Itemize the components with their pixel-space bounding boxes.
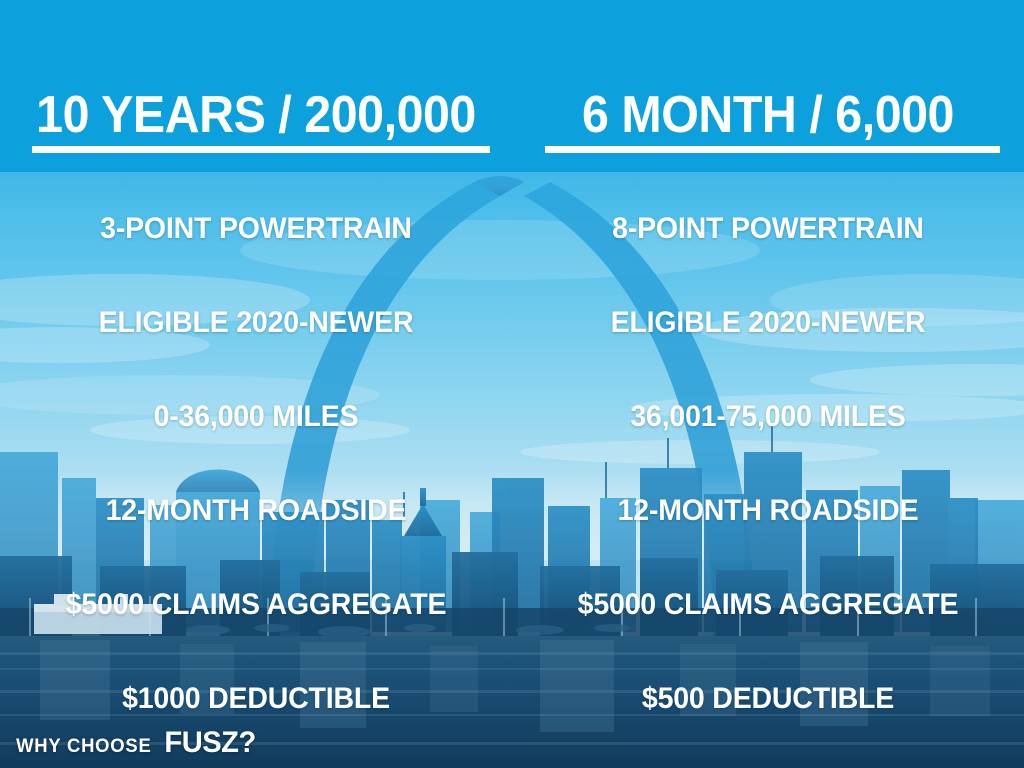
- feature-left-miles: 0-36,000 MILES: [13, 400, 499, 434]
- headline-underline-right: [545, 146, 1000, 153]
- feature-right-roadside: 12-MONTH ROADSIDE: [525, 494, 1011, 528]
- feature-left-powertrain: 3-POINT POWERTRAIN: [13, 212, 499, 246]
- feature-left-roadside: 12-MONTH ROADSIDE: [13, 494, 499, 528]
- feature-left-eligible: ELIGIBLE 2020-NEWER: [13, 306, 499, 340]
- feature-right-deductible: $500 DEDUCTIBLE: [525, 682, 1011, 716]
- feature-left-deductible: $1000 DEDUCTIBLE: [13, 682, 499, 716]
- brand-prefix: WHY CHOOSE: [16, 736, 151, 758]
- promo-graphic: 10 YEARS / 200,000 6 MONTH / 6,000 3-POI…: [0, 0, 1024, 768]
- headline-right: 6 MONTH / 6,000: [530, 88, 1006, 142]
- headline-underline-left: [32, 146, 490, 153]
- feature-left-claims-aggregate: $5000 CLAIMS AGGREGATE: [13, 588, 499, 622]
- benefit-row: ELIGIBLE 2020-NEWER ELIGIBLE 2020-NEWER: [0, 276, 1024, 370]
- headline-column-left: 10 YEARS / 200,000: [0, 88, 512, 158]
- headline-left: 10 YEARS / 200,000: [18, 88, 494, 142]
- headline-row: 10 YEARS / 200,000 6 MONTH / 6,000: [0, 88, 1024, 158]
- benefit-row: 0-36,000 MILES 36,001-75,000 MILES: [0, 370, 1024, 464]
- headline-column-right: 6 MONTH / 6,000: [512, 88, 1024, 158]
- benefit-row: 3-POINT POWERTRAIN 8-POINT POWERTRAIN: [0, 182, 1024, 276]
- brand-name: FUSZ?: [164, 726, 255, 760]
- feature-right-powertrain: 8-POINT POWERTRAIN: [525, 212, 1011, 246]
- benefit-row: 12-MONTH ROADSIDE 12-MONTH ROADSIDE: [0, 464, 1024, 558]
- feature-right-eligible: ELIGIBLE 2020-NEWER: [525, 306, 1011, 340]
- benefit-rows: 3-POINT POWERTRAIN 8-POINT POWERTRAIN EL…: [0, 182, 1024, 746]
- brand-lockup: WHY CHOOSE FUSZ?: [14, 726, 257, 760]
- feature-right-miles: 36,001-75,000 MILES: [525, 400, 1011, 434]
- feature-right-claims-aggregate: $5000 CLAIMS AGGREGATE: [525, 588, 1011, 622]
- benefit-row: $5000 CLAIMS AGGREGATE $5000 CLAIMS AGGR…: [0, 558, 1024, 652]
